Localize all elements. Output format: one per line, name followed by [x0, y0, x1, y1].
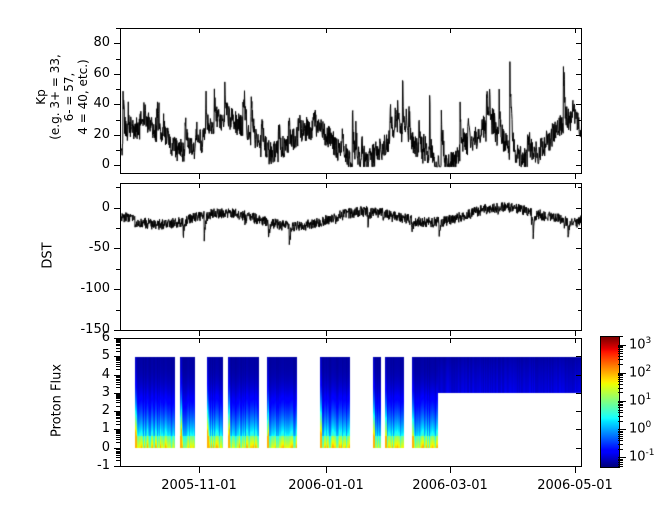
colorbar-minor-tick [618, 353, 623, 354]
axis-tick [576, 165, 582, 166]
axis-tick [116, 379, 121, 380]
kp-ytick-label: 20 [93, 127, 110, 142]
axis-tick [116, 339, 121, 340]
axis-tick [576, 356, 582, 357]
colorbar-minor-tick [618, 459, 623, 460]
axis-tick [578, 310, 582, 311]
colorbar-minor-tick [618, 432, 623, 433]
axis-tick [116, 364, 121, 365]
axis-tick [326, 183, 327, 188]
colorbar-minor-tick [618, 379, 623, 380]
axis-tick [116, 375, 121, 376]
colorbar-minor-tick [618, 374, 623, 375]
proton-flux-ytick-label: 2 [102, 403, 110, 418]
axis-tick [199, 183, 200, 188]
axis-tick [576, 248, 582, 249]
axis-tick [576, 393, 582, 394]
axis-tick [576, 429, 582, 430]
axis-tick [199, 28, 200, 33]
colorbar-minor-tick [618, 431, 623, 432]
axis-tick [116, 150, 121, 151]
axis-tick [576, 208, 582, 209]
kp-ytick-label: 40 [93, 96, 110, 111]
axis-tick [116, 395, 121, 396]
axis-tick [116, 424, 121, 425]
dst-ytick-label: -100 [80, 281, 110, 296]
axis-tick [116, 380, 121, 381]
dst-ytick-label: -50 [89, 240, 110, 255]
axis-tick [116, 59, 121, 60]
axis-tick [116, 432, 121, 433]
figure-canvas: 020406080 Kp (e.g. 3+ = 33, 6- = 57, 4 =… [0, 0, 665, 523]
time-axis-tick-label: 2006-03-01 [412, 478, 488, 493]
axis-tick [116, 369, 121, 370]
axis-tick [116, 359, 121, 360]
axis-tick [116, 89, 121, 90]
axis-tick [116, 345, 121, 346]
axis-tick [326, 173, 327, 179]
dst-ytick-label: 0 [102, 200, 110, 215]
colorbar-minor-tick [618, 407, 623, 408]
axis-tick [116, 387, 121, 388]
colorbar-tick-label: 101 [629, 392, 651, 408]
axis-tick [116, 451, 121, 452]
dst-axis-title: DST [41, 235, 56, 275]
colorbar-minor-tick [618, 347, 623, 348]
axis-tick [116, 415, 121, 416]
colorbar-minor-tick [618, 434, 623, 435]
colorbar-tick [618, 429, 626, 430]
axis-tick [578, 150, 582, 151]
colorbar-minor-tick [618, 346, 623, 347]
axis-tick [116, 406, 121, 407]
axis-tick [116, 120, 121, 121]
axis-tick [116, 460, 121, 461]
axis-tick [116, 384, 121, 385]
axis-tick [116, 455, 121, 456]
axis-tick [114, 208, 121, 209]
colorbar-minor-tick [618, 405, 623, 406]
kp-axis-title: Kp (e.g. 3+ = 33, 6- = 57, 4 = 40, etc.) [34, 17, 90, 177]
axis-tick [116, 453, 121, 454]
axis-tick [116, 348, 121, 349]
axis-tick [116, 396, 121, 397]
axis-tick [114, 165, 121, 166]
axis-tick [576, 411, 582, 412]
axis-tick [116, 449, 121, 450]
axis-tick [116, 418, 121, 419]
axis-tick [116, 341, 121, 342]
axis-tick [114, 466, 121, 467]
axis-tick [575, 183, 576, 188]
axis-tick [114, 248, 121, 249]
colorbar-tick-label: 103 [629, 336, 651, 352]
axis-tick [116, 430, 121, 431]
colorbar-minor-tick [618, 440, 623, 441]
axis-tick [450, 173, 451, 179]
colorbar-minor-tick [618, 359, 623, 360]
axis-tick [450, 183, 451, 188]
colorbar-gradient [600, 336, 620, 468]
time-axis-tick [199, 338, 200, 343]
axis-tick [116, 437, 121, 438]
colorbar-minor-tick [618, 438, 623, 439]
colorbar-minor-tick [618, 356, 623, 357]
axis-tick [116, 417, 121, 418]
axis-tick [116, 397, 121, 398]
axis-tick [116, 228, 121, 229]
axis-tick [199, 330, 200, 336]
time-axis-tick [199, 466, 200, 473]
axis-tick [578, 187, 582, 188]
colorbar-minor-tick [618, 351, 623, 352]
time-axis-tick [450, 466, 451, 473]
axis-tick [575, 330, 576, 336]
axis-tick [116, 362, 121, 363]
kp-line-plot [121, 29, 581, 173]
axis-tick [578, 59, 582, 60]
colorbar-minor-tick [618, 464, 623, 465]
colorbar-minor-tick [618, 404, 623, 405]
colorbar-minor-tick [618, 444, 623, 445]
axis-tick [450, 28, 451, 33]
colorbar-minor-tick [618, 416, 623, 417]
colorbar-tick-label: 102 [629, 364, 651, 380]
axis-tick [116, 435, 121, 436]
colorbar-minor-tick [618, 388, 623, 389]
colorbar-tick [618, 457, 626, 458]
proton-flux-ytick-label: 1 [102, 421, 110, 436]
axis-tick [576, 448, 582, 449]
time-axis-tick-label: 2006-01-01 [288, 478, 364, 493]
time-axis-tick [450, 338, 451, 343]
time-axis-tick-label: 2005-11-01 [161, 478, 237, 493]
colorbar-minor-tick [618, 336, 623, 337]
colorbar-minor-tick [618, 460, 623, 461]
colorbar-minor-tick [618, 377, 623, 378]
colorbar-minor-tick [618, 412, 623, 413]
axis-tick [578, 228, 582, 229]
axis-tick [116, 358, 121, 359]
axis-tick [114, 74, 121, 75]
kp-ytick-label: 0 [102, 157, 110, 172]
colorbar-minor-tick [618, 462, 623, 463]
time-axis-tick [575, 466, 576, 473]
axis-tick [116, 360, 121, 361]
axis-tick [116, 402, 121, 403]
axis-tick [114, 43, 121, 44]
axis-tick [116, 357, 121, 358]
axis-tick [116, 340, 121, 341]
time-axis-tick [326, 338, 327, 343]
axis-tick [116, 457, 121, 458]
axis-tick [116, 414, 121, 415]
kp-ytick-label: 80 [93, 35, 110, 50]
colorbar-minor-tick [618, 410, 623, 411]
proton-flux-ytick-label: -1 [97, 458, 110, 473]
axis-tick [450, 330, 451, 336]
proton-flux-ytick-label: 6 [102, 330, 110, 345]
axis-tick [575, 28, 576, 33]
axis-tick [578, 89, 582, 90]
axis-tick [116, 452, 121, 453]
axis-tick [576, 135, 582, 136]
axis-tick [326, 330, 327, 336]
axis-tick [578, 269, 582, 270]
axis-tick [326, 28, 327, 33]
time-axis-tick-label: 2006-05-01 [537, 478, 613, 493]
axis-tick [116, 421, 121, 422]
axis-tick [116, 342, 121, 343]
axis-tick [116, 269, 121, 270]
axis-tick [116, 400, 121, 401]
axis-tick [116, 398, 121, 399]
axis-tick [576, 74, 582, 75]
axis-tick [114, 135, 121, 136]
axis-tick [578, 28, 582, 29]
axis-tick [576, 289, 582, 290]
proton-flux-axis-title: Proton Flux [50, 361, 65, 441]
axis-tick [116, 351, 121, 352]
colorbar-minor-tick [618, 466, 623, 467]
axis-tick [575, 173, 576, 179]
colorbar-minor-tick [618, 349, 623, 350]
time-axis-tick [575, 338, 576, 343]
proton-flux-ytick-label: 5 [102, 348, 110, 363]
proton-flux-ytick-label: 4 [102, 367, 110, 382]
axis-tick [116, 187, 121, 188]
axis-tick [116, 310, 121, 311]
colorbar-minor-tick [618, 364, 623, 365]
axis-tick [116, 439, 121, 440]
axis-tick [116, 433, 121, 434]
colorbar-minor-tick [618, 384, 623, 385]
axis-tick [114, 330, 121, 331]
time-axis-tick [326, 466, 327, 473]
axis-tick [576, 104, 582, 105]
colorbar-tick-label: 10-1 [629, 448, 655, 464]
kp-ytick-label: 60 [93, 66, 110, 81]
axis-tick [116, 344, 121, 345]
colorbar-minor-tick [618, 375, 623, 376]
axis-tick [576, 330, 582, 331]
colorbar-minor-tick [618, 436, 623, 437]
dst-line-plot [121, 184, 581, 330]
axis-tick [576, 375, 582, 376]
axis-tick [576, 43, 582, 44]
axis-tick [199, 173, 200, 179]
axis-tick [114, 289, 121, 290]
axis-tick [116, 382, 121, 383]
axis-tick [576, 338, 582, 339]
proton-flux-ytick-label: 3 [102, 385, 110, 400]
axis-tick [576, 466, 582, 467]
axis-tick [116, 442, 121, 443]
colorbar-minor-tick [618, 449, 623, 450]
axis-tick [116, 377, 121, 378]
axis-tick [116, 376, 121, 377]
axis-tick [116, 412, 121, 413]
axis-tick [116, 431, 121, 432]
axis-tick [114, 104, 121, 105]
colorbar-tick-label: 100 [629, 420, 651, 436]
proton-flux-heatmap [121, 339, 581, 466]
axis-tick [116, 413, 121, 414]
axis-tick [116, 28, 121, 29]
colorbar-minor-tick [618, 402, 623, 403]
colorbar-minor-tick [618, 392, 623, 393]
proton-flux-ytick-label: 0 [102, 440, 110, 455]
axis-tick [578, 120, 582, 121]
colorbar-minor-tick [618, 381, 623, 382]
colorbar-minor-tick [618, 421, 623, 422]
axis-tick [116, 366, 121, 367]
axis-tick [116, 394, 121, 395]
